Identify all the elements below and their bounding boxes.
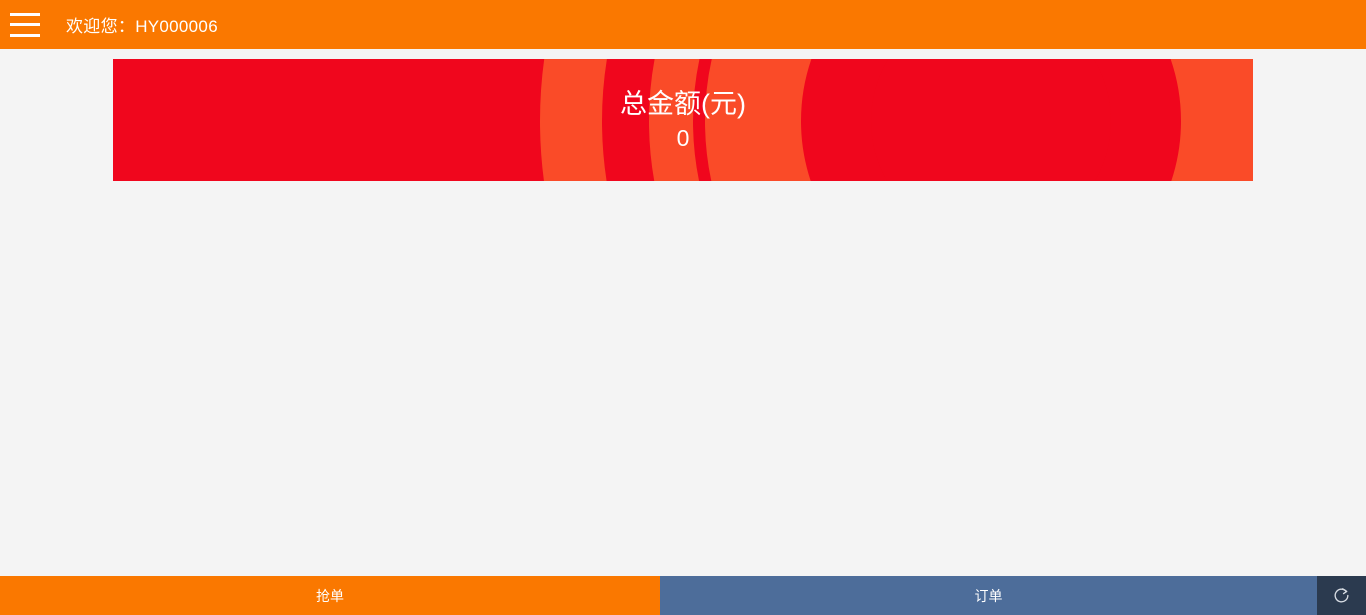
tab-grab-order[interactable]: 抢单 [0,576,660,615]
tab-orders[interactable]: 订单 [660,576,1317,615]
hamburger-bar-3 [10,34,40,37]
banner-title: 总金额(元) [620,87,746,121]
welcome-label: 欢迎您：HY000006 [66,12,218,37]
hamburger-bar-1 [10,13,40,16]
refresh-icon [1332,586,1351,605]
tab-orders-label: 订单 [975,586,1003,606]
banner-total-value: 0 [677,123,690,153]
total-amount-banner: 总金额(元) 0 [113,59,1253,181]
refresh-button[interactable] [1317,576,1366,615]
tab-grab-order-label: 抢单 [316,586,344,606]
main-content-area [0,181,1366,576]
hamburger-menu-icon[interactable] [10,13,40,37]
app-header: 欢迎您：HY000006 [0,0,1366,49]
hamburger-bar-2 [10,23,40,26]
bottom-navigation-bar: 抢单 订单 [0,576,1366,615]
banner-content: 总金额(元) 0 [113,59,1253,181]
